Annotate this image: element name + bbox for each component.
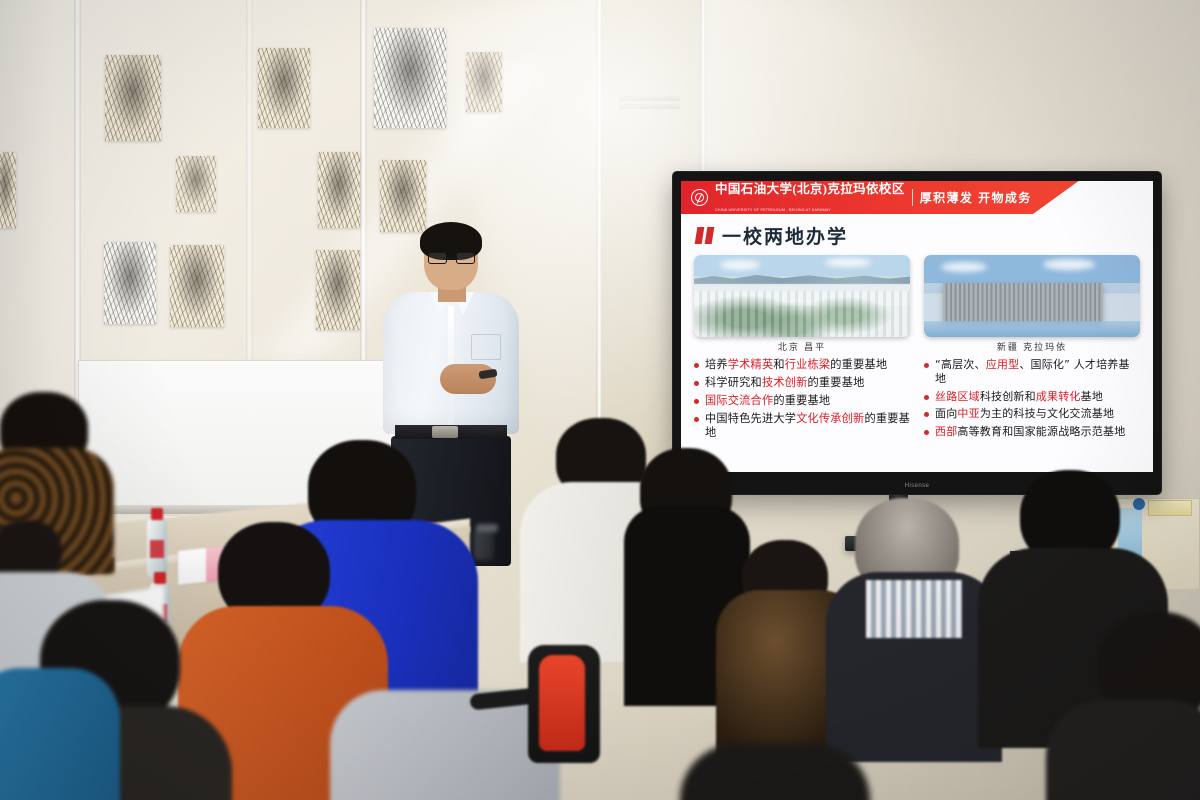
bullet-dot-icon bbox=[694, 399, 699, 404]
slide-title-row: 一校两地办学 bbox=[696, 222, 1140, 249]
banner-divider bbox=[912, 189, 913, 206]
glasses-icon bbox=[428, 252, 475, 264]
wall-sketch bbox=[0, 152, 16, 228]
bullet-dot-icon bbox=[694, 417, 699, 422]
wall-label-tag bbox=[1148, 500, 1192, 516]
wall-display[interactable]: 中国石油大学(北京)克拉玛依校区 CHINA UNIVERSITY OF PET… bbox=[673, 172, 1161, 494]
wall-sign-icon bbox=[1133, 498, 1145, 510]
university-name-cn: 中国石油大学(北京)克拉玛依校区 bbox=[715, 182, 905, 196]
campus-photo-beijing bbox=[694, 255, 910, 337]
bullet-text: 丝路区域科技创新和成果转化基地 bbox=[935, 390, 1103, 404]
presenter-shirt-pocket bbox=[471, 334, 501, 360]
bullet-dot-icon bbox=[924, 430, 929, 435]
bullet-text: 面向中亚为主的科技与文化交流基地 bbox=[935, 407, 1114, 421]
wall-sketch bbox=[176, 156, 216, 212]
slide-banner: 中国石油大学(北京)克拉玛依校区 CHINA UNIVERSITY OF PET… bbox=[681, 181, 1153, 214]
bullet-item: 面向中亚为主的科技与文化交流基地 bbox=[924, 407, 1140, 421]
university-name-en: CHINA UNIVERSITY OF PETROLEUM - BEIJING … bbox=[715, 208, 831, 212]
bullet-text: 培养学术精英和行业栋梁的重要基地 bbox=[705, 358, 887, 372]
bullet-item: 培养学术精英和行业栋梁的重要基地 bbox=[694, 358, 910, 372]
bullet-dot-icon bbox=[924, 363, 929, 368]
wall-sketch bbox=[170, 245, 224, 327]
column-beijing: 北京 昌平 培养学术精英和行业栋梁的重要基地 科学研究和技术创新的重要基地 bbox=[694, 255, 910, 444]
bullet-text: “高层次、应用型、国际化” 人才培养基地 bbox=[935, 358, 1140, 386]
title-marker-icon bbox=[696, 227, 713, 244]
column-karamay: 新疆 克拉玛依 “高层次、应用型、国际化” 人才培养基地 丝路区域科技创新和成果… bbox=[924, 255, 1140, 444]
wall-sketch bbox=[104, 242, 156, 324]
university-motto: 厚积薄发 开物成务 bbox=[920, 189, 1032, 206]
bullet-item: 国际交流合作的重要基地 bbox=[694, 394, 910, 408]
thermos-cup bbox=[474, 530, 494, 560]
bullet-item: 中国特色先进大学文化传承创新的重要基地 bbox=[694, 412, 910, 440]
bullet-item: 西部高等教育和国家能源战略示范基地 bbox=[924, 425, 1140, 439]
bullet-text: 中国特色先进大学文化传承创新的重要基地 bbox=[705, 412, 910, 440]
slide-title: 一校两地办学 bbox=[722, 222, 848, 249]
photo-caption-beijing: 北京 昌平 bbox=[694, 340, 910, 353]
bullet-dot-icon bbox=[924, 395, 929, 400]
wall-sketch bbox=[466, 52, 502, 112]
presenter-belt-buckle bbox=[432, 426, 458, 438]
wall-sketch bbox=[380, 160, 426, 232]
bullet-item: 科学研究和技术创新的重要基地 bbox=[694, 376, 910, 390]
bullet-text: 科学研究和技术创新的重要基地 bbox=[705, 376, 864, 390]
presenter-hands bbox=[440, 364, 496, 394]
water-bottle bbox=[147, 518, 167, 578]
bullets-beijing: 培养学术精英和行业栋梁的重要基地 科学研究和技术创新的重要基地 国际交流合作的重… bbox=[694, 358, 910, 440]
bullets-karamay: “高层次、应用型、国际化” 人才培养基地 丝路区域科技创新和成果转化基地 面向中… bbox=[924, 358, 1140, 439]
screenshot-scene: 中国石油大学(北京)克拉玛依校区 CHINA UNIVERSITY OF PET… bbox=[0, 0, 1200, 800]
campus-photo-karamay bbox=[924, 255, 1140, 337]
bullet-dot-icon bbox=[694, 381, 699, 386]
photo-caption-karamay: 新疆 克拉玛依 bbox=[924, 340, 1140, 353]
slide-body: 一校两地办学 北京 昌平 培养学术精英和行业栋梁的重要基地 bbox=[681, 214, 1153, 444]
slide-columns: 北京 昌平 培养学术精英和行业栋梁的重要基地 科学研究和技术创新的重要基地 bbox=[694, 255, 1140, 444]
wall-sketch bbox=[316, 250, 360, 330]
bullet-item: 丝路区域科技创新和成果转化基地 bbox=[924, 390, 1140, 404]
bullet-dot-icon bbox=[924, 412, 929, 417]
bullet-text: 国际交流合作的重要基地 bbox=[705, 394, 830, 408]
wall-sketch bbox=[374, 28, 446, 128]
office-chair[interactable] bbox=[528, 645, 600, 763]
wall-sketch bbox=[318, 152, 360, 228]
display-brand-logo: Hisense bbox=[905, 483, 929, 489]
bullet-text: 西部高等教育和国家能源战略示范基地 bbox=[935, 425, 1125, 439]
wall-sketch bbox=[258, 48, 310, 128]
wall-sketch bbox=[105, 55, 161, 141]
university-seal-icon bbox=[691, 189, 708, 206]
slide-screen: 中国石油大学(北京)克拉玛依校区 CHINA UNIVERSITY OF PET… bbox=[681, 181, 1153, 472]
bullet-dot-icon bbox=[694, 363, 699, 368]
bullet-item: “高层次、应用型、国际化” 人才培养基地 bbox=[924, 358, 1140, 386]
